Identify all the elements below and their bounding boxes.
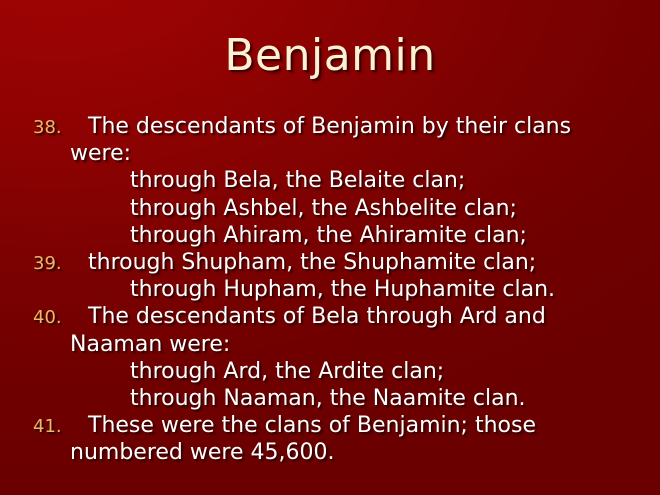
verse-text: through Shupham, the Shuphamite clan; [88, 249, 536, 276]
verse-text: through Ard, the Ardite clan; [130, 358, 444, 385]
verse-line: 41.These were the clans of Benjamin; tho… [0, 412, 660, 439]
verse-text: Naaman were: [70, 331, 230, 358]
verse-number: 39. [33, 250, 73, 277]
verse-text: were: [70, 140, 131, 167]
slide-title-container: Benjamin [0, 30, 660, 82]
verse-text: through Ahiram, the Ahiramite clan; [130, 222, 527, 249]
verse-number: 38. [33, 114, 73, 141]
verse-text: through Ashbel, the Ashbelite clan; [130, 195, 517, 222]
verse-text: numbered were 45,600. [70, 439, 334, 466]
verse-line: Naaman were: [0, 331, 660, 358]
slide-body-text: 38.The descendants of Benjamin by their … [0, 113, 660, 466]
verse-text: through Bela, the Belaite clan; [130, 167, 465, 194]
verse-number: 40. [33, 304, 73, 331]
verse-number: 41. [33, 413, 73, 440]
verse-line: were: [0, 140, 660, 167]
verse-line: through Hupham, the Huphamite clan. [0, 276, 660, 303]
verse-line: 40.The descendants of Bela through Ard a… [0, 303, 660, 330]
verse-line: through Ahiram, the Ahiramite clan; [0, 222, 660, 249]
verse-line: through Ashbel, the Ashbelite clan; [0, 195, 660, 222]
verse-text: The descendants of Bela through Ard and [88, 303, 546, 330]
verse-text: through Hupham, the Huphamite clan. [130, 276, 555, 303]
verse-text: through Naaman, the Naamite clan. [130, 385, 526, 412]
verse-line: through Ard, the Ardite clan; [0, 358, 660, 385]
verse-line: 38.The descendants of Benjamin by their … [0, 113, 660, 140]
verse-text: The descendants of Benjamin by their cla… [88, 113, 571, 140]
verse-line: through Naaman, the Naamite clan. [0, 385, 660, 412]
verse-line: numbered were 45,600. [0, 439, 660, 466]
presentation-slide: Benjamin 38.The descendants of Benjamin … [0, 0, 660, 495]
page-title: Benjamin [224, 30, 435, 82]
verse-text: These were the clans of Benjamin; those [88, 412, 536, 439]
verse-line: through Bela, the Belaite clan; [0, 167, 660, 194]
verse-line: 39.through Shupham, the Shuphamite clan; [0, 249, 660, 276]
